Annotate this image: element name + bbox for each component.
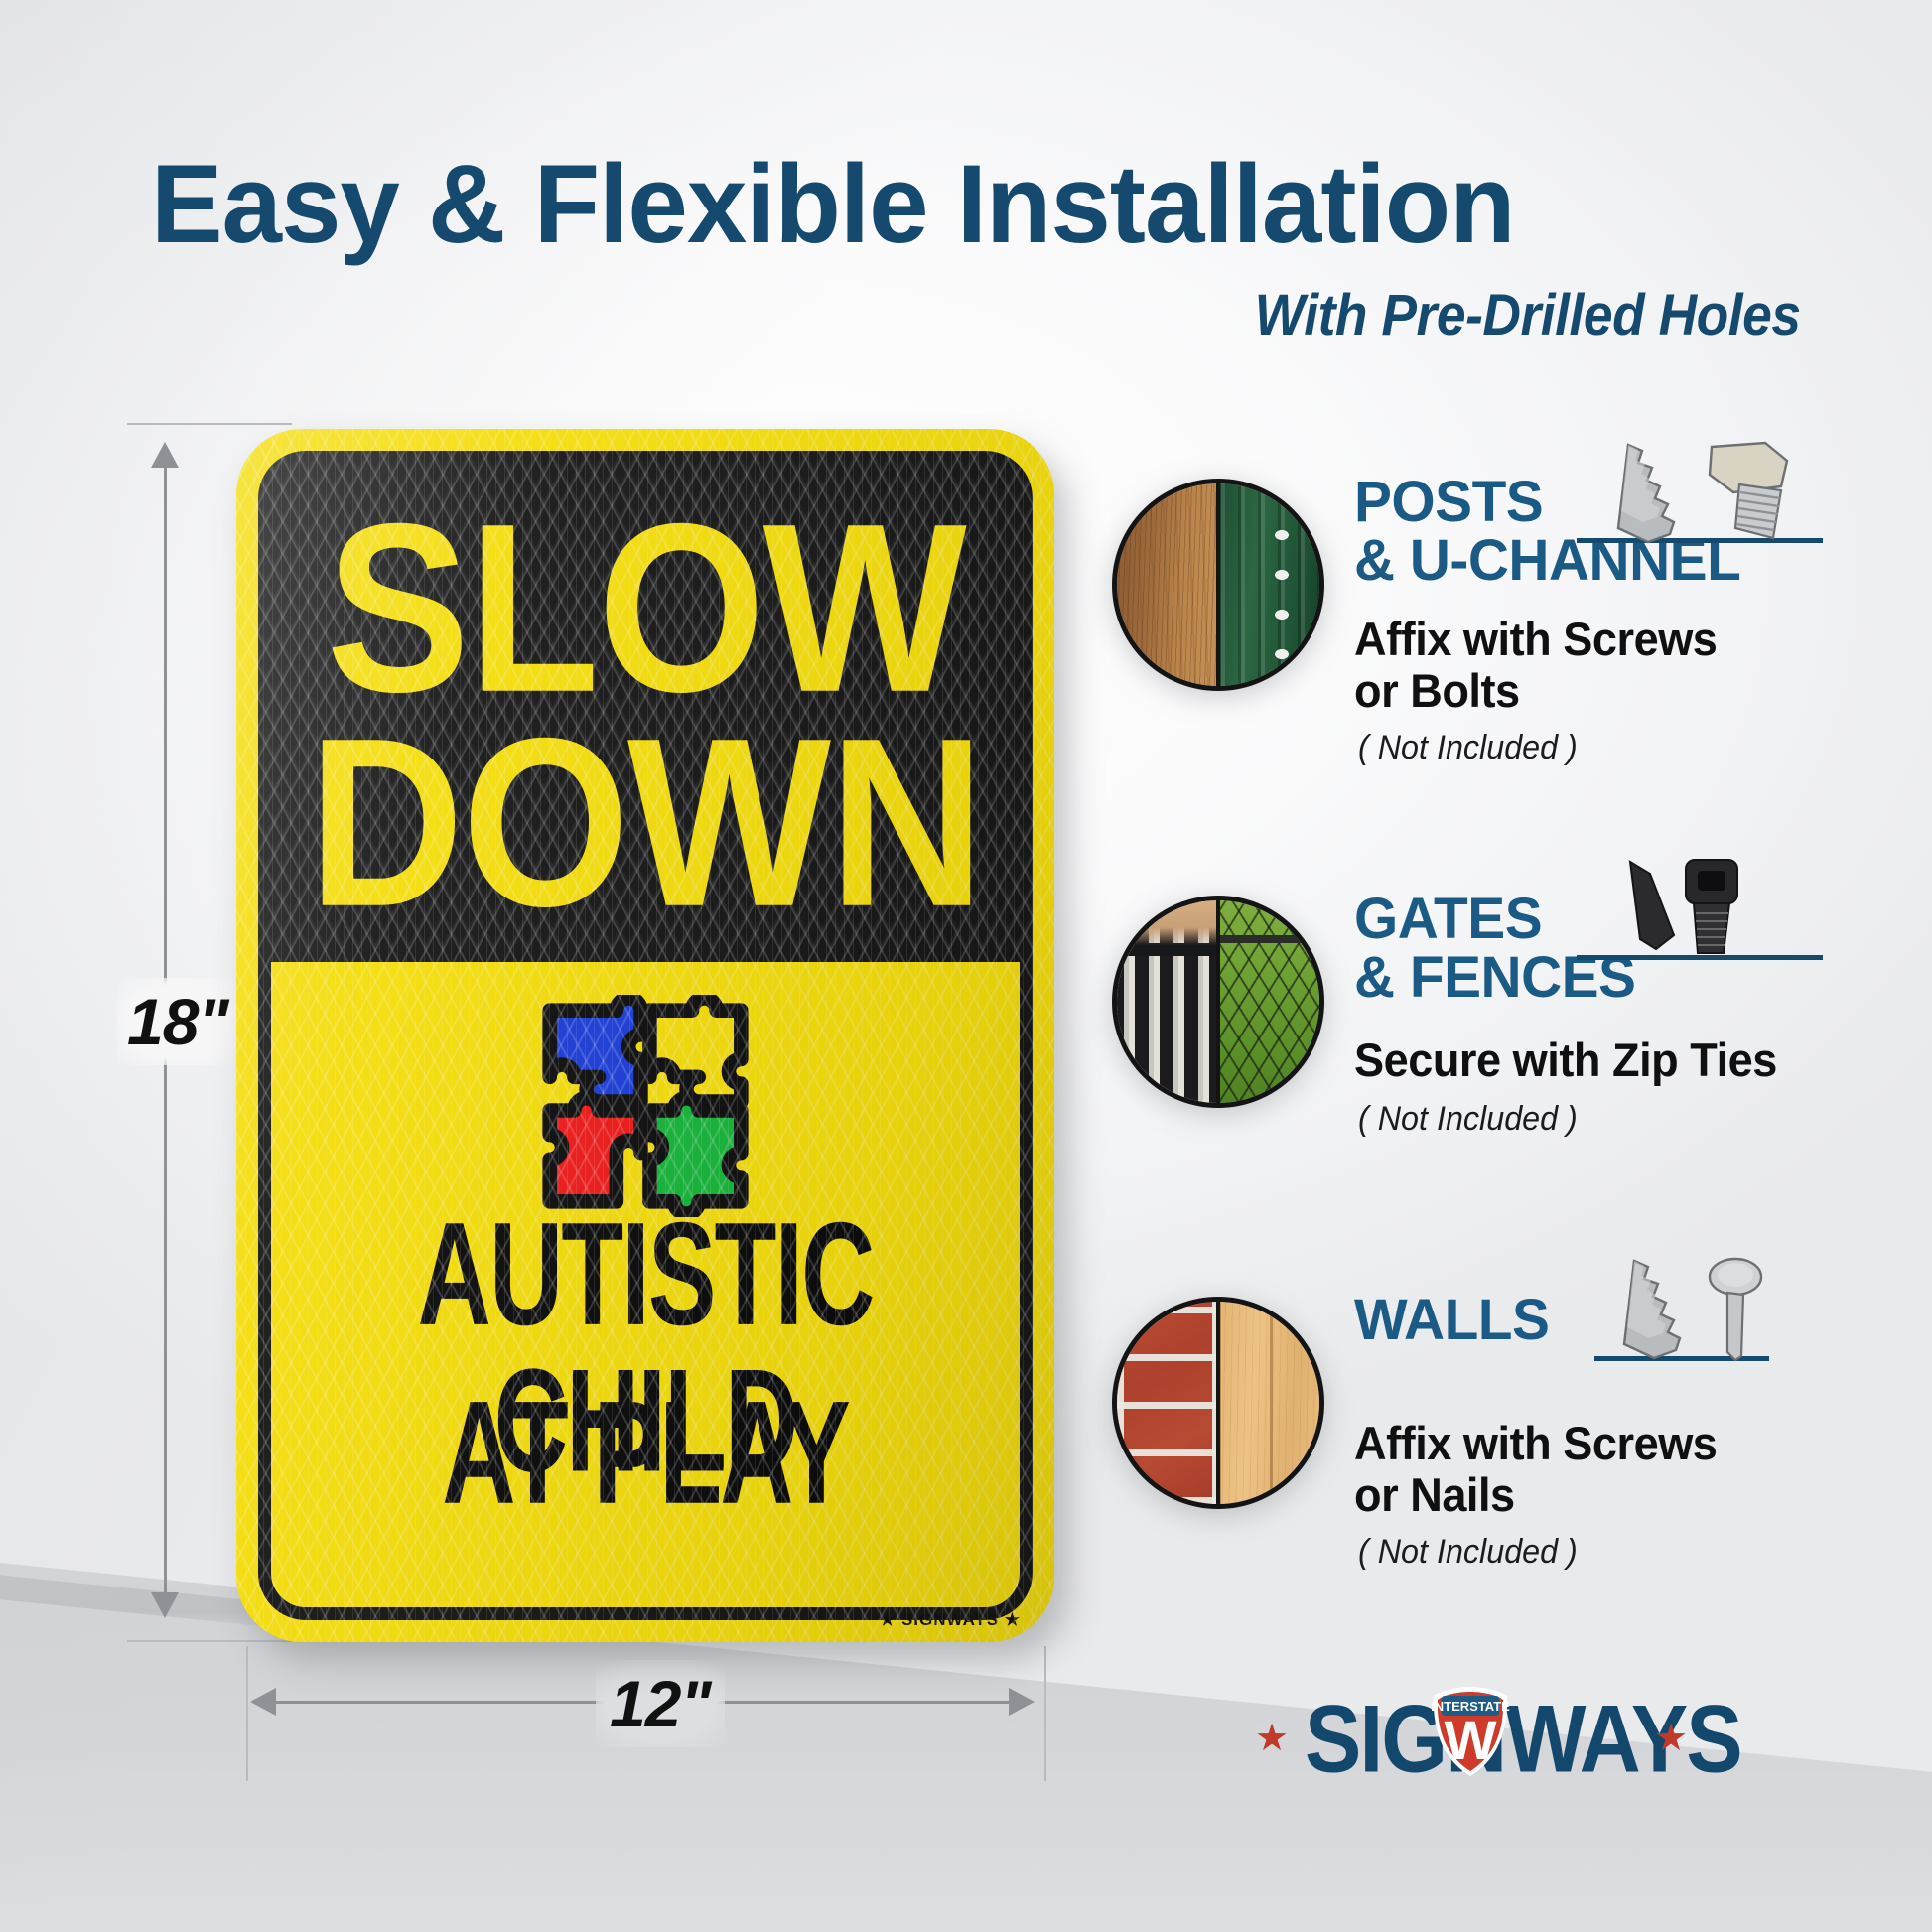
screw-icon <box>1618 445 1674 542</box>
feature-subtitle-line2: or Nails <box>1354 1468 1515 1521</box>
sign-top-black-panel: SLOW DOWN <box>258 451 1033 949</box>
star-icon-right: ★ <box>1654 1722 1688 1755</box>
brick-wall-photo <box>1117 1302 1218 1504</box>
bolt-icon <box>1710 443 1787 538</box>
interstate-shield-icon: INTERSTATE W <box>1428 1684 1513 1779</box>
feature-title-walls: WALLS <box>1354 1291 1549 1349</box>
iron-gate-photo <box>1117 900 1218 1103</box>
green-u-channel-photo <box>1218 483 1319 686</box>
feature-subtitle-line1: Affix with Screws <box>1354 613 1717 665</box>
feature-gates-fences: GATES & FENCES Secu <box>1112 890 1932 1187</box>
feature-subtitle-posts: Affix with Screws or Bolts <box>1354 614 1717 716</box>
puzzle-piece-blue <box>550 998 641 1101</box>
feature-image-gates <box>1112 896 1324 1108</box>
feature-title-line1: GATES <box>1354 887 1542 951</box>
feature-subtitle-line1: Affix with Screws <box>1354 1417 1717 1469</box>
feature-title-line1: WALLS <box>1354 1288 1549 1352</box>
width-dimension-label: 12" <box>596 1660 725 1747</box>
feature-title-gates: GATES & FENCES <box>1354 890 1635 1007</box>
sign-bottom-yellow-panel: AUTISTIC CHILD AT PLAY <box>258 949 1033 1620</box>
arrow-head-right-icon <box>1009 1688 1035 1716</box>
puzzle-piece-red <box>550 1098 641 1201</box>
image-divider <box>1216 483 1220 686</box>
screw-and-bolt-art <box>1585 439 1845 551</box>
feature-title-line1: POSTS <box>1354 470 1543 534</box>
star-icon-left: ★ <box>1255 1722 1289 1755</box>
chain-link-fence-photo <box>1218 900 1319 1103</box>
feature-note-gates: ( Not Included ) <box>1358 1100 1578 1139</box>
feature-image-walls <box>1112 1297 1324 1509</box>
wood-plank-wall-photo <box>1218 1302 1319 1504</box>
feature-note-walls: ( Not Included ) <box>1358 1533 1578 1572</box>
page-title: Easy & Flexible Installation <box>151 149 1769 260</box>
shield-letter: W <box>1445 1709 1497 1771</box>
sign-text-down: DOWN <box>258 703 1033 943</box>
guide-line-left <box>246 1646 248 1781</box>
sign-brand-watermark: ★ SIGNWAYS ★ <box>880 1610 1021 1630</box>
wood-post-photo <box>1117 483 1218 686</box>
zip-tie-icon-back <box>1630 862 1674 949</box>
screw-icon <box>1624 1261 1680 1358</box>
image-divider <box>1216 900 1220 1103</box>
feature-subtitle-walls: Affix with Screws or Nails <box>1354 1418 1717 1520</box>
feature-posts-u-channel: POSTS & U-CHANNEL A <box>1112 473 1932 770</box>
feature-image-posts <box>1112 479 1324 691</box>
zip-ties-art <box>1596 858 1831 966</box>
puzzle-piece-yellow <box>649 998 741 1101</box>
page-subtitle: With Pre-Drilled Holes <box>1255 282 1801 348</box>
arrow-head-down-icon <box>151 1592 179 1618</box>
nail-icon <box>1710 1259 1761 1360</box>
zip-tie-icon-front <box>1686 860 1737 953</box>
feature-walls: WALLS Affix with Screws or Nails ( Not I… <box>1112 1291 1932 1588</box>
guide-line-bottom <box>127 1640 292 1642</box>
feature-note-posts: ( Not Included ) <box>1358 729 1578 767</box>
sign-text-at-play: AT PLAY <box>262 1380 1029 1527</box>
guide-line-top <box>127 423 292 425</box>
feature-subtitle-line1: Secure with Zip Ties <box>1354 1034 1777 1086</box>
product-sign: SLOW DOWN AUTISTIC CHILD AT PLAY ★ SIGN <box>236 429 1054 1642</box>
feature-subtitle-gates: Secure with Zip Ties <box>1354 1035 1777 1086</box>
guide-line-right <box>1044 1646 1046 1781</box>
product-infographic: Easy & Flexible Installation With Pre-Dr… <box>0 0 1932 1932</box>
image-divider <box>1216 1302 1220 1504</box>
height-dimension-label: 18" <box>117 978 238 1065</box>
screw-and-nail-art <box>1600 1257 1811 1367</box>
brand-logo: ★ SIGNWAYS INTERSTATE W ★ <box>1253 1676 1690 1801</box>
feature-subtitle-line2: or Bolts <box>1354 664 1520 717</box>
autism-puzzle-icon <box>534 995 757 1217</box>
